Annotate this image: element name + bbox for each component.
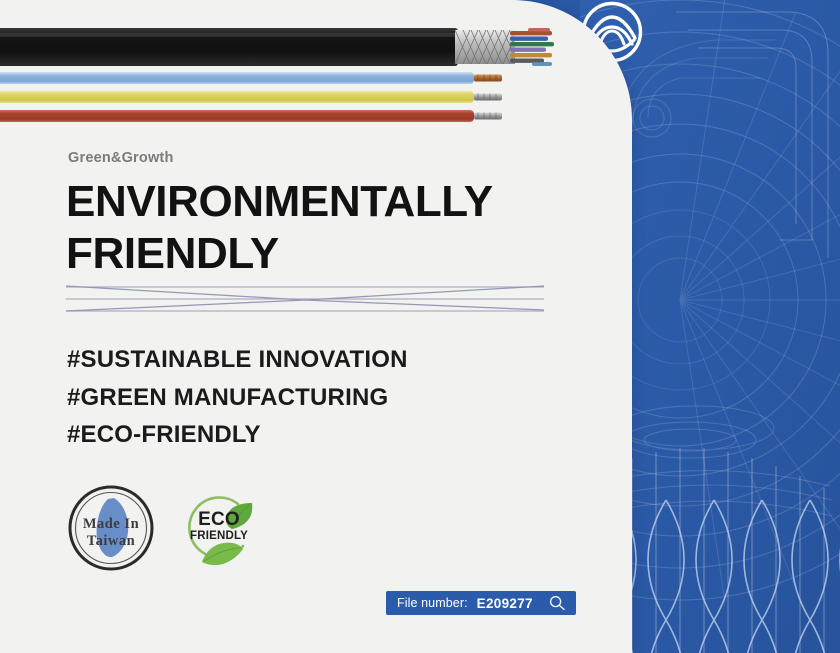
headline-line-1: ENVIRONMENTALLY xyxy=(66,176,493,228)
hashtag-item-2: #GREEN MANUFACTURING xyxy=(67,379,408,417)
eyebrow-label: Green&Growth xyxy=(68,150,174,166)
poster-canvas: 環 境 友 善 ENVIRONMENTALLY FRIENDLY xyxy=(0,0,840,653)
hashtag-item-3: #ECO-FRIENDLY xyxy=(67,416,408,454)
content-card: Green&Growth ENVIRONMENTALLY FRIENDLY #S… xyxy=(0,0,632,653)
svg-text:FRIENDLY: FRIENDLY xyxy=(190,530,248,542)
leaf-bottom-icon xyxy=(202,543,243,565)
page-title: ENVIRONMENTALLY FRIENDLY xyxy=(66,176,493,280)
svg-text:Made In: Made In xyxy=(83,516,139,532)
file-number-label: File number: xyxy=(397,596,468,610)
magnifier-icon[interactable] xyxy=(548,594,566,612)
divider-lines-graphic xyxy=(66,278,544,320)
certification-badges: Made In Taiwan ECO FRIENDLY xyxy=(64,484,258,572)
file-number-value: E209277 xyxy=(477,596,533,611)
made-in-taiwan-badge: Made In Taiwan xyxy=(64,484,158,572)
file-number-badge[interactable]: File number: E209277 xyxy=(386,591,576,615)
eco-friendly-badge: ECO FRIENDLY xyxy=(182,491,258,565)
cable-product-image xyxy=(0,0,632,140)
svg-text:ECO: ECO xyxy=(198,509,240,530)
headline-line-2: FRIENDLY xyxy=(66,228,493,280)
hashtag-list: #SUSTAINABLE INNOVATION #GREEN MANUFACTU… xyxy=(67,341,408,454)
hashtag-item-1: #SUSTAINABLE INNOVATION xyxy=(67,341,408,379)
svg-text:Taiwan: Taiwan xyxy=(87,533,135,549)
